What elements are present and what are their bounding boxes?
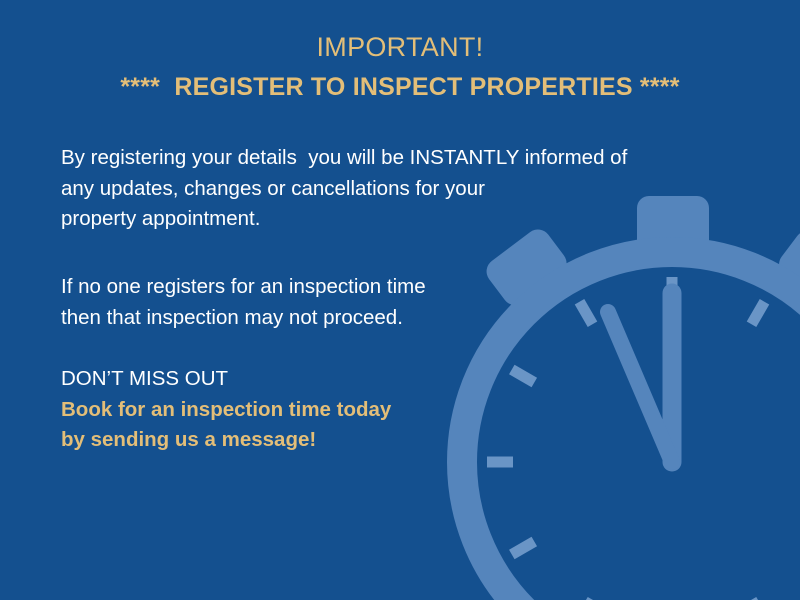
intro-line-3: property appointment. [61, 204, 721, 235]
promo-slide: IMPORTANT! **** REGISTER TO INSPECT PROP… [0, 0, 800, 600]
headline-block: IMPORTANT! **** REGISTER TO INSPECT PROP… [0, 30, 800, 104]
cta-line-dont-miss-out: DON’T MISS OUT [61, 364, 721, 395]
warning-line-2: then that inspection may not proceed. [61, 303, 721, 334]
slide-content: IMPORTANT! **** REGISTER TO INSPECT PROP… [0, 0, 800, 600]
cta-line-send-message: by sending us a message! [61, 425, 721, 456]
headline-secondary: **** REGISTER TO INSPECT PROPERTIES **** [0, 70, 800, 104]
headline-primary: IMPORTANT! [0, 30, 800, 64]
paragraph-warning: If no one registers for an inspection ti… [61, 272, 721, 333]
intro-line-2: any updates, changes or cancellations fo… [61, 174, 721, 205]
paragraph-call-to-action: DON’T MISS OUT Book for an inspection ti… [61, 364, 721, 456]
intro-line-1: By registering your details you will be … [61, 143, 721, 174]
warning-line-1: If no one registers for an inspection ti… [61, 272, 721, 303]
paragraph-intro: By registering your details you will be … [61, 143, 721, 235]
cta-line-book-today: Book for an inspection time today [61, 395, 721, 426]
